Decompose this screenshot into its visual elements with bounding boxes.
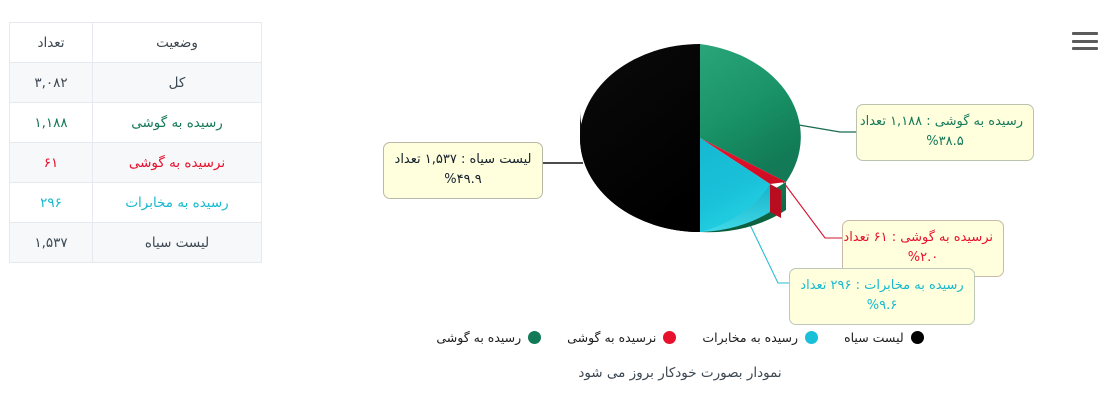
table-row: رسیده به گوشی۱,۱۸۸ xyxy=(10,103,262,143)
table-cell-status: نرسیده به گوشی xyxy=(93,143,262,183)
legend-swatch-icon xyxy=(911,331,924,344)
leader-line-notreach xyxy=(781,179,842,238)
callout-telecom-count: رسیده به مخابرات : ۲۹۶ تعداد xyxy=(800,278,963,293)
legend-swatch-icon xyxy=(805,331,818,344)
table-header: وضعیت تعداد xyxy=(10,23,262,63)
callout-notreach-count: نرسیده به گوشی : ۶۱ تعداد xyxy=(843,230,993,245)
table-row: رسیده به مخابرات۲۹۶ xyxy=(10,183,262,223)
legend-item[interactable]: رسیده به گوشی xyxy=(436,330,541,345)
hamburger-bar-middle xyxy=(1072,40,1098,43)
hamburger-menu-icon[interactable] xyxy=(1072,30,1098,52)
table-cell-status: کل xyxy=(93,63,262,103)
status-summary-table: وضعیت تعداد کل۳,۰۸۲رسیده به گوشی۱,۱۸۸نرس… xyxy=(10,22,262,263)
table-row: نرسیده به گوشی۶۱ xyxy=(10,143,262,183)
callout-blacklist: لیست سیاه : ۱,۵۳۷ تعداد %۴۹.۹ xyxy=(383,142,543,199)
table-cell-status: رسیده به گوشی xyxy=(93,103,262,143)
table-cell-status: رسیده به مخابرات xyxy=(93,183,262,223)
column-header-count: تعداد xyxy=(10,23,93,63)
legend-label: نرسیده به گوشی xyxy=(567,330,656,345)
table-cell-count: ۱,۱۸۸ xyxy=(10,103,93,143)
callout-reached-handset: رسیده به گوشی : ۱,۱۸۸ تعداد %۳۸.۵ xyxy=(856,104,1034,161)
legend-item[interactable]: نرسیده به گوشی xyxy=(567,330,676,345)
callout-blacklist-count: لیست سیاه : ۱,۵۳۷ تعداد xyxy=(395,152,532,167)
table-row: کل۳,۰۸۲ xyxy=(10,63,262,103)
table-cell-status: لیست سیاه xyxy=(93,223,262,263)
callout-reached-count: رسیده به گوشی : ۱,۱۸۸ تعداد xyxy=(860,114,1023,129)
legend-label: رسیده به مخابرات xyxy=(702,330,798,345)
hamburger-bar-top xyxy=(1072,32,1098,35)
pie-chart-panel: رسیده به گوشی : ۱,۱۸۸ تعداد %۳۸.۵ لیست س… xyxy=(300,0,1060,415)
callout-reached-percent: %۳۸.۵ xyxy=(867,132,1023,152)
callout-reached-telecom: رسیده به مخابرات : ۲۹۶ تعداد %۹.۶ xyxy=(789,268,975,325)
chart-legend: رسیده به گوشینرسیده به گوشیرسیده به مخاب… xyxy=(300,330,1060,345)
pie-slice-blacklist[interactable] xyxy=(580,44,700,232)
callout-telecom-percent: %۹.۶ xyxy=(800,296,964,316)
chart-footnote: نمودار بصورت خودکار بروز می شود xyxy=(300,365,1060,381)
callout-blacklist-percent: %۴۹.۹ xyxy=(394,170,532,190)
legend-label: لیست سیاه xyxy=(844,330,904,345)
callout-notreach-percent: %۲.۰ xyxy=(853,248,993,268)
table-body: کل۳,۰۸۲رسیده به گوشی۱,۱۸۸نرسیده به گوشی۶… xyxy=(10,63,262,263)
legend-label: رسیده به گوشی xyxy=(436,330,521,345)
status-table: وضعیت تعداد کل۳,۰۸۲رسیده به گوشی۱,۱۸۸نرس… xyxy=(9,22,262,263)
legend-item[interactable]: لیست سیاه xyxy=(844,330,924,345)
legend-swatch-icon xyxy=(663,331,676,344)
pie-chart-stage: رسیده به گوشی : ۱,۱۸۸ تعداد %۳۸.۵ لیست س… xyxy=(300,0,1060,330)
table-cell-count: ۳,۰۸۲ xyxy=(10,63,93,103)
table-cell-count: ۲۹۶ xyxy=(10,183,93,223)
legend-item[interactable]: رسیده به مخابرات xyxy=(702,330,818,345)
legend-swatch-icon xyxy=(528,331,541,344)
table-header-row: وضعیت تعداد xyxy=(10,23,262,63)
column-header-status: وضعیت xyxy=(93,23,262,63)
pie-slice-side-notreach xyxy=(770,184,781,218)
leader-line-reached xyxy=(793,124,856,132)
hamburger-bar-bottom xyxy=(1072,47,1098,50)
table-cell-count: ۶۱ xyxy=(10,143,93,183)
table-cell-count: ۱,۵۳۷ xyxy=(10,223,93,263)
table-row: لیست سیاه۱,۵۳۷ xyxy=(10,223,262,263)
